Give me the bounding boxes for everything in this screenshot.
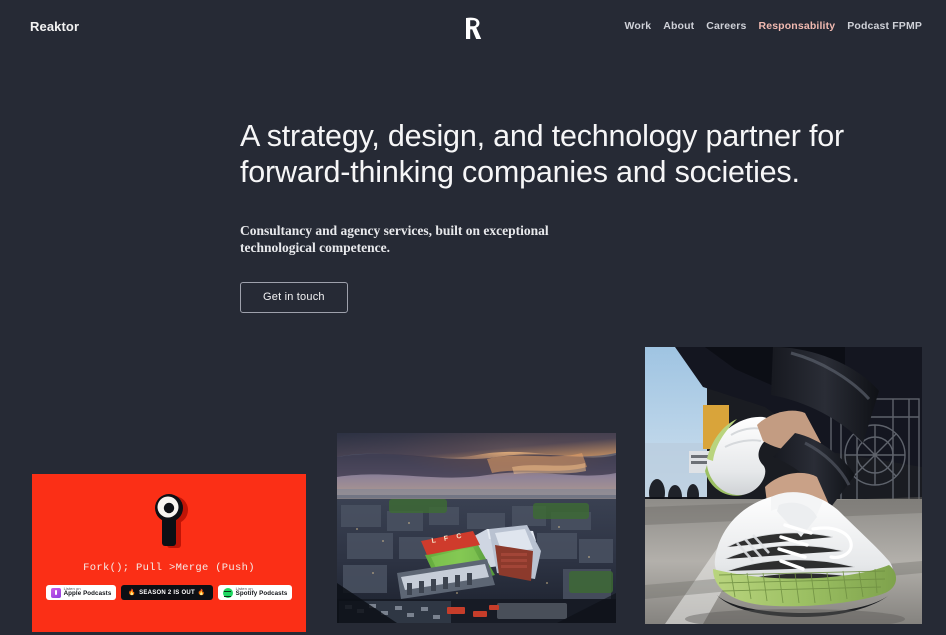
main-navigation: Work About Careers Responsability Podcas… [625, 20, 922, 32]
apple-badge-main: Apple Podcasts [64, 591, 112, 597]
spotify-badge-main: Spotify Podcasts [236, 591, 288, 597]
podcast-title: Fork(); Pull >Merge (Push) [83, 562, 255, 574]
podcast-card[interactable]: Fork(); Pull >Merge (Push) Listen on App… [32, 474, 306, 632]
nav-item-careers[interactable]: Careers [706, 20, 746, 32]
nav-item-about[interactable]: About [663, 20, 694, 32]
nav-item-work[interactable]: Work [625, 20, 652, 32]
fire-emoji-left: 🔥 [128, 590, 136, 596]
nav-item-podcast-fpmp[interactable]: Podcast FPMP [847, 20, 922, 32]
spotify-icon [223, 588, 233, 598]
stadium-photo-card[interactable]: L F C [337, 433, 616, 623]
stadium-photo: L F C [337, 433, 616, 623]
get-in-touch-button[interactable]: Get in touch [240, 282, 348, 313]
reaktor-r-logo-icon[interactable] [462, 16, 484, 40]
spotify-badge-text: Listen on Spotify Podcasts [236, 587, 288, 597]
sneaker-photo [645, 347, 922, 624]
sneaker-photo-card[interactable] [645, 347, 922, 624]
page-title: A strategy, design, and technology partn… [240, 118, 890, 190]
featured-cards: Fork(); Pull >Merge (Push) Listen on App… [0, 0, 946, 635]
hero-subtitle: Consultancy and agency services, built o… [240, 223, 570, 256]
microphone-icon [147, 493, 191, 551]
apple-podcasts-badge[interactable]: Listen on Apple Podcasts [46, 585, 117, 600]
podcast-badges: Listen on Apple Podcasts 🔥 SEASON 2 IS O… [46, 585, 293, 600]
season-badge[interactable]: 🔥 SEASON 2 IS OUT 🔥 [121, 585, 212, 600]
season-badge-label: SEASON 2 IS OUT [139, 590, 195, 596]
fire-emoji-right: 🔥 [198, 590, 206, 596]
brand-logo-text[interactable]: Reaktor [30, 19, 79, 34]
apple-badge-text: Listen on Apple Podcasts [64, 587, 112, 597]
nav-item-responsability[interactable]: Responsability [758, 20, 835, 32]
site-header: Reaktor Work About Careers Responsabilit… [0, 0, 946, 56]
apple-podcasts-icon [51, 588, 61, 598]
spotify-podcasts-badge[interactable]: Listen on Spotify Podcasts [218, 585, 293, 600]
hero-section: A strategy, design, and technology partn… [240, 118, 900, 313]
page-root: Reaktor Work About Careers Responsabilit… [0, 0, 946, 635]
